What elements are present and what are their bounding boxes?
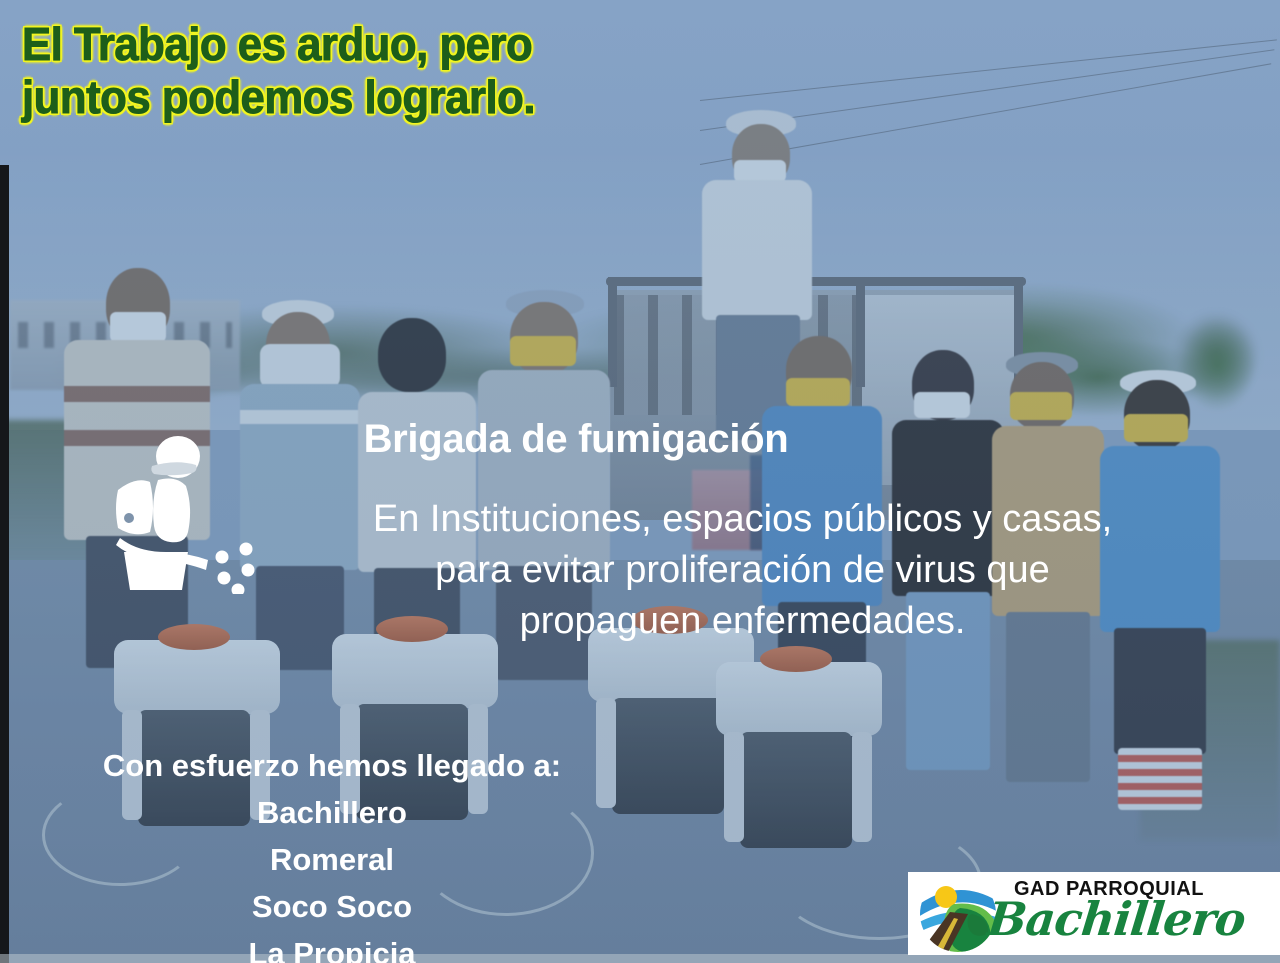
subtitle: En Instituciones, espacios públicos y ca… bbox=[250, 494, 1235, 647]
list-item: Romeral bbox=[32, 836, 632, 883]
logo-name: Bachillero bbox=[985, 892, 1247, 946]
logo-text: GAD PARROQUIAL Bachillero bbox=[1006, 874, 1280, 954]
reached-lead: Con esfuerzo hemos llegado a: bbox=[32, 742, 632, 789]
headline: El Trabajo es arduo, pero juntos podemos… bbox=[22, 18, 687, 125]
reached-block: Con esfuerzo hemos llegado a: Bachillero… bbox=[32, 742, 632, 963]
backpack-sprayer-icon bbox=[96, 434, 276, 594]
subtitle-line-2: para evitar proliferación de virus que bbox=[250, 545, 1235, 596]
poster: El Trabajo es arduo, pero juntos podemos… bbox=[0, 0, 1280, 963]
list-item: La Propicia bbox=[32, 930, 632, 963]
left-edge-band bbox=[0, 165, 9, 963]
subtitle-line-3: propaguen enfermedades. bbox=[250, 596, 1235, 647]
subtitle-line-1: En Instituciones, espacios públicos y ca… bbox=[250, 494, 1235, 545]
list-item: Soco Soco bbox=[32, 883, 632, 930]
page-title: Brigada de fumigación bbox=[288, 417, 864, 462]
headline-line-1: El Trabajo es arduo, pero bbox=[22, 18, 687, 71]
headline-line-2: juntos podemos lograrlo. bbox=[22, 71, 687, 124]
list-item: Bachillero bbox=[32, 789, 632, 836]
logo: GAD PARROQUIAL Bachillero bbox=[908, 872, 1280, 955]
